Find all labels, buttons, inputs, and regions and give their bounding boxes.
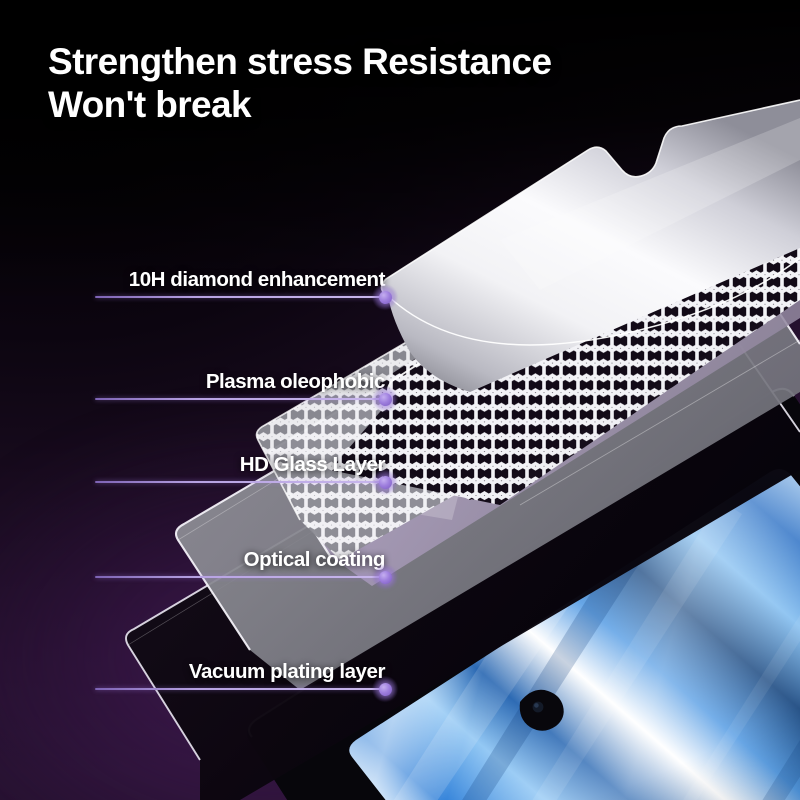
callout-label: 10H diamond enhancement <box>129 268 385 292</box>
callout-leader-line <box>95 296 385 298</box>
callout-dot-icon <box>379 571 392 584</box>
callout-leader-line <box>95 481 385 483</box>
callout-dot-icon <box>379 291 392 304</box>
callout-dot-icon <box>379 393 392 406</box>
title-line-1: Strengthen stress Resistance <box>48 41 551 82</box>
callout-label: Optical coating <box>244 548 385 572</box>
callout-leader-line <box>95 576 385 578</box>
callout-label: Vacuum plating layer <box>189 660 385 684</box>
callout-leader-line <box>95 398 385 400</box>
page-title: Strengthen stress Resistance Won't break <box>48 40 551 127</box>
title-line-2: Won't break <box>48 83 551 126</box>
callout-label: HD Glass Layer <box>240 453 385 477</box>
callout-label: Plasma oleophobic <box>206 370 385 394</box>
callout-dot-icon <box>379 683 392 696</box>
callout-leader-line <box>95 688 385 690</box>
infographic-canvas: Strengthen stress Resistance Won't break… <box>0 0 800 800</box>
callout-dot-icon <box>379 476 392 489</box>
